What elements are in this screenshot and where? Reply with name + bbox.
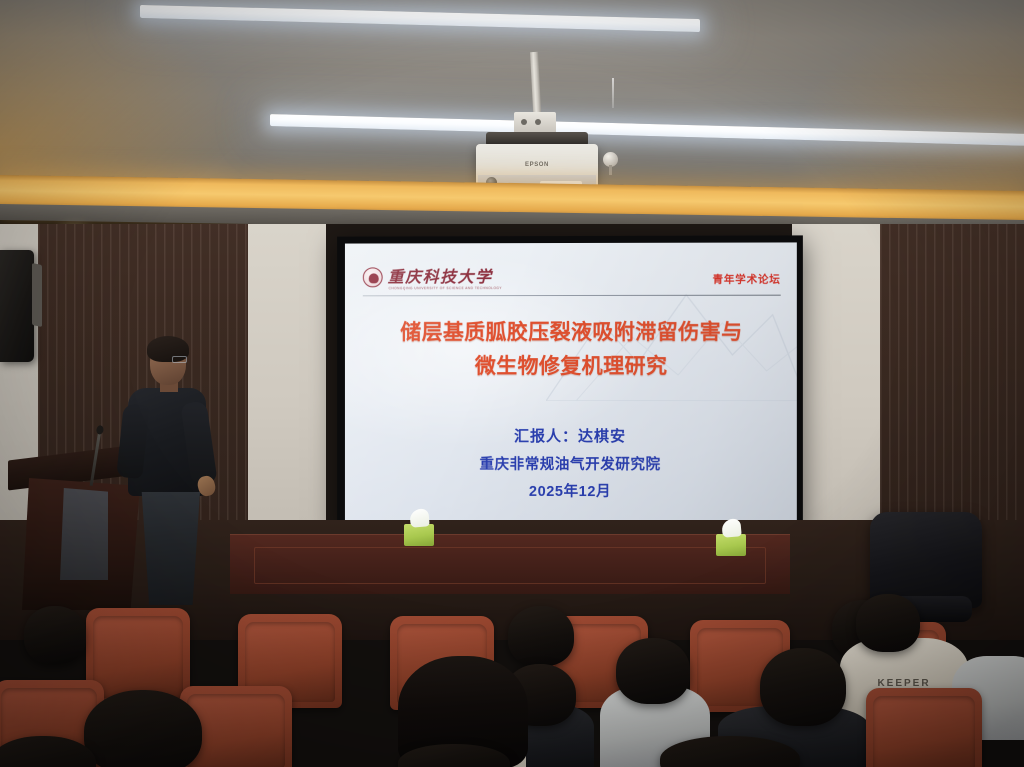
university-name-cn: 重庆科技大学	[388, 269, 493, 285]
presenter-glasses	[172, 356, 187, 363]
university-logo: 重庆科技大学	[363, 267, 493, 287]
projector-brand-label: EPSON	[476, 162, 598, 168]
attendee-head	[24, 606, 86, 664]
slide-title: 储层基质胍胶压裂液吸附滞留伤害与 微生物修复机理研究	[373, 315, 771, 383]
auditorium-seat	[866, 688, 982, 767]
forum-tag: 青年学术论坛	[713, 272, 781, 287]
projection-screen: 重庆科技大学 CHONGQING UNIVERSITY OF SCIENCE A…	[337, 235, 803, 533]
fire-sprinkler	[601, 152, 620, 175]
ceiling: EPSON	[0, 0, 1024, 205]
ceiling-warm-glow-right	[724, 0, 1024, 205]
lecture-hall-photo: EPSON	[0, 0, 1024, 767]
seat-cushion	[873, 696, 975, 767]
slide-organization: 重庆非常规油气开发研究院	[345, 451, 797, 479]
attendee-head	[84, 690, 202, 767]
slide-presenter: 汇报人：达棋安	[345, 423, 797, 452]
ceiling-warm-glow-left	[0, 0, 300, 205]
attendee-head	[760, 648, 846, 726]
projector-mount-bracket	[514, 112, 556, 134]
attendee-head	[856, 594, 920, 652]
slide-title-line-1: 储层基质胍胶压裂液吸附滞留伤害与	[373, 315, 771, 349]
wall-mounted-loudspeaker	[0, 250, 34, 362]
tissue-box-right	[716, 534, 746, 556]
slide-title-line-2: 微生物修复机理研究	[373, 349, 771, 383]
attendee-head	[508, 606, 574, 666]
slide-subtitle-block: 汇报人：达棋安 重庆非常规油气开发研究院 2025年12月	[345, 423, 797, 507]
tissue-box-left	[404, 524, 434, 546]
university-name-en: CHONGQING UNIVERSITY OF SCIENCE AND TECH…	[389, 286, 502, 290]
slide-date: 2025年12月	[345, 479, 797, 507]
sprinkler-drop-wire	[612, 78, 614, 108]
seat-cushion	[93, 616, 183, 698]
jacket-text: KEEPER	[877, 678, 930, 689]
university-seal-icon	[363, 267, 383, 287]
attendee-head	[616, 638, 690, 704]
sprinkler-stem	[609, 165, 612, 175]
audience-area: KEEPER	[0, 560, 1024, 767]
presentation-slide: 重庆科技大学 CHONGQING UNIVERSITY OF SCIENCE A…	[345, 242, 797, 526]
slide-header: 重庆科技大学 CHONGQING UNIVERSITY OF SCIENCE A…	[363, 267, 781, 296]
projector-mount-pole	[530, 52, 541, 118]
